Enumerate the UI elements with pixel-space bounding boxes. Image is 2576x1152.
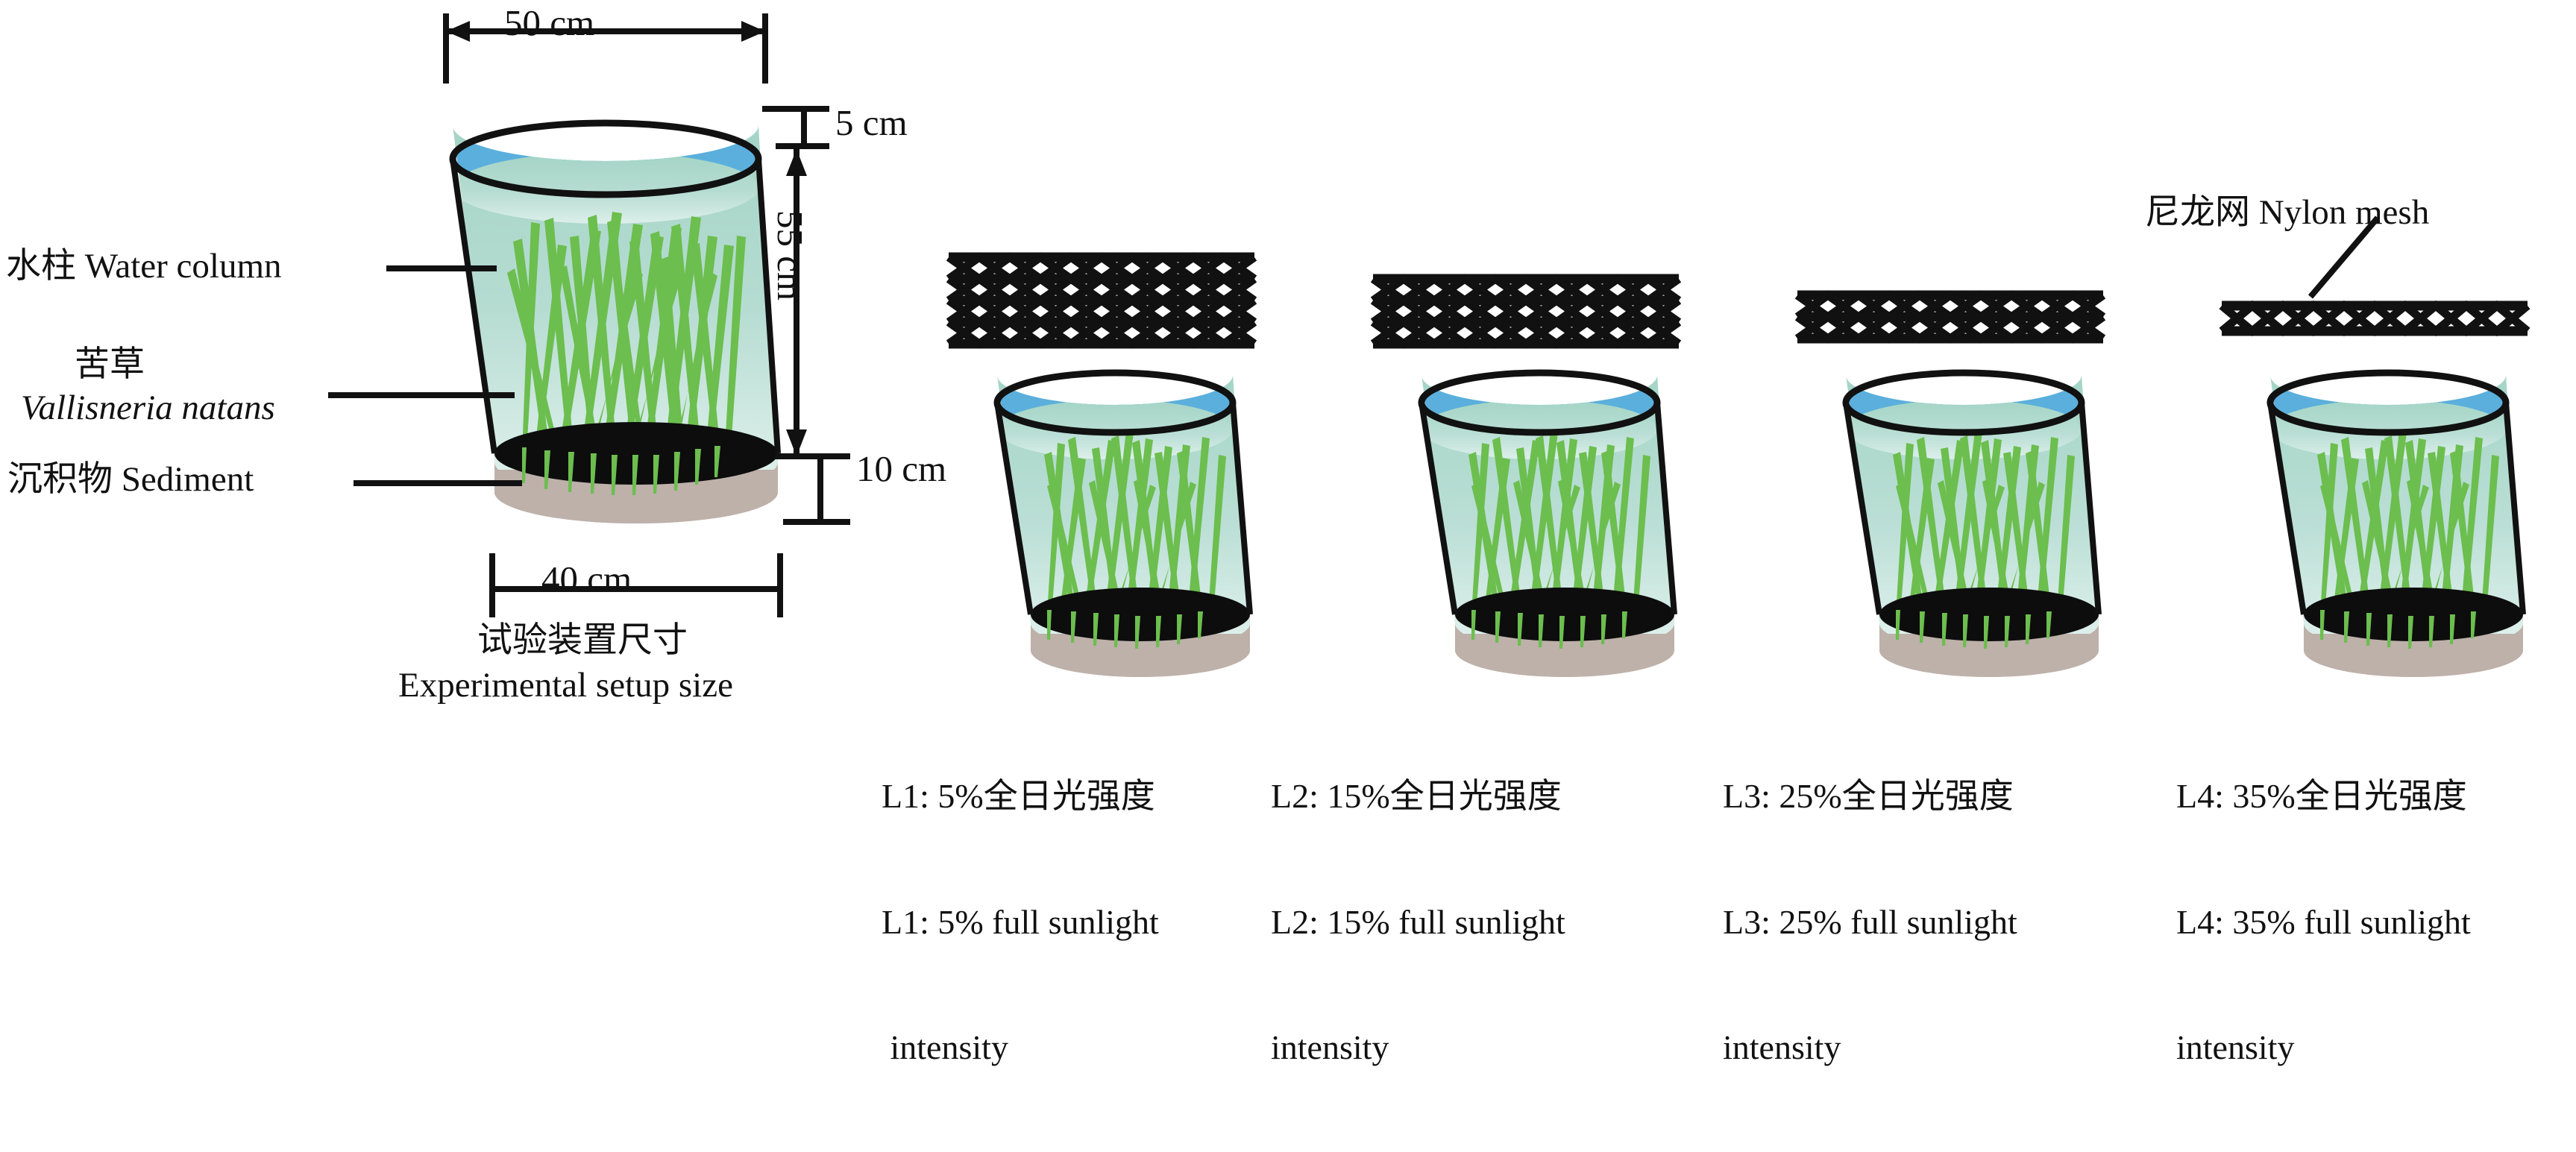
callout-plant-en: Vallisneria natans <box>21 391 275 426</box>
dim-label-bottom-width: 40 cm <box>541 561 632 597</box>
callout-sediment: 沉积物 Sediment <box>7 462 254 497</box>
main-caption-cn: 试验装置尺寸 <box>477 623 688 658</box>
treatment-label-L4-cn: L4: 35%全日光强度 <box>2176 775 2471 817</box>
nylon-mesh-legend-en: Nylon mesh <box>2259 193 2429 232</box>
treatment-label-L2: L2: 15%全日光强度 L2: 15% full sunlight inten… <box>1271 692 1565 1152</box>
vessel-rim <box>453 123 758 195</box>
plant-bases-main <box>522 446 720 495</box>
callout-plant-cn: 苦草 <box>75 347 145 383</box>
callout-leaders <box>328 218 2378 483</box>
spacer <box>76 247 85 286</box>
treatment-label-L1: L1: 5%全日光强度 L1: 5% full sunlight intensi… <box>882 692 1159 1152</box>
nylon-mesh-legend: 尼龙网 Nylon mesh <box>2145 195 2429 230</box>
dimension-lines <box>446 13 850 617</box>
treatment-label-L1-cn: L1: 5%全日光强度 <box>882 775 1159 817</box>
main-caption-en: Experimental setup size <box>398 668 733 703</box>
treatment-label-L3-cn: L3: 25%全日光强度 <box>1723 775 2017 817</box>
dim-label-headspace: 5 cm <box>835 104 908 141</box>
treatment-label-L3-en2: intensity <box>1723 1027 2017 1068</box>
dim-label-sediment-depth: 10 cm <box>856 450 946 487</box>
treatment-vessel-L3 <box>1841 365 2102 677</box>
water-surface-blend <box>453 152 758 224</box>
nylon-mesh-L1 <box>949 257 1254 344</box>
spacer <box>113 460 122 499</box>
sediment-top-ellipse <box>494 422 778 485</box>
treatment-label-L2-en2: intensity <box>1271 1027 1565 1068</box>
spacer <box>2250 193 2259 232</box>
vallisneria-plants-main <box>507 212 746 461</box>
treatment-label-L4-en1: L4: 35% full sunlight <box>2176 901 2471 943</box>
treatment-vessel-L1 <box>992 365 1253 677</box>
treatment-label-L4: L4: 35%全日光强度 L4: 35% full sunlight inten… <box>2176 692 2471 1152</box>
dim-label-water-depth: 55 cm <box>772 210 808 300</box>
water-surface-blue <box>453 123 758 195</box>
treatment-vessel-L2 <box>1416 365 1677 677</box>
treatment-label-L3: L3: 25%全日光强度 L3: 25% full sunlight inten… <box>1723 692 2017 1152</box>
treatment-label-L2-cn: L2: 15%全日光强度 <box>1271 775 1565 817</box>
treatment-label-L3-en1: L3: 25% full sunlight <box>1723 901 2017 943</box>
nylon-mesh-L3 <box>1797 295 2103 339</box>
treatment-vessel-L4 <box>2265 365 2526 677</box>
nylon-mesh-L2 <box>1373 279 1679 344</box>
water-body <box>447 112 791 470</box>
sediment-side <box>494 453 778 523</box>
callout-water-column: 水柱 Water column <box>6 249 282 284</box>
callout-sediment-en: Sediment <box>122 460 254 499</box>
figure-canvas: 50 cm 5 cm 55 cm 10 cm 40 cm 水柱 Water co… <box>0 0 2576 857</box>
callout-sediment-cn: 沉积物 <box>7 460 113 499</box>
main-vessel <box>447 112 791 523</box>
treatment-label-L2-en1: L2: 15% full sunlight <box>1271 901 1565 943</box>
nylon-mesh-legend-cn: 尼龙网 <box>2145 193 2250 232</box>
treatment-label-L1-en1: L1: 5% full sunlight <box>882 901 1159 943</box>
dim-label-top-width: 50 cm <box>504 4 594 41</box>
treatment-label-L1-en2: intensity <box>882 1027 1159 1068</box>
callout-water-column-en: Water column <box>85 247 282 286</box>
callout-water-column-cn: 水柱 <box>6 247 76 286</box>
sediment-bottom-ellipse <box>494 461 778 523</box>
treatment-label-L4-en2: intensity <box>2176 1027 2471 1068</box>
nylon-mesh-L4 <box>2222 306 2528 331</box>
